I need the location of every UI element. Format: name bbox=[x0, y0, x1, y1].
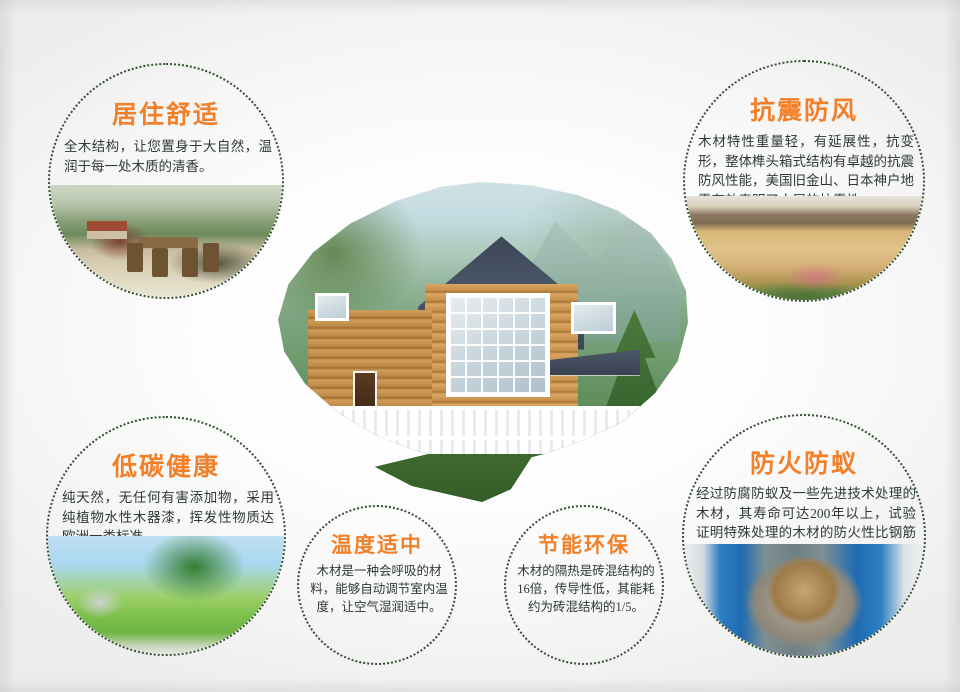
feature-photo-comfort bbox=[50, 185, 282, 297]
garden-chair-shape bbox=[182, 248, 198, 277]
feature-circle-quake-wind[interactable]: 抗震防风 木材特性重量轻，有延展性，抗变形，整体榫头箱式结构有卓越的抗震防风性能… bbox=[683, 60, 925, 302]
hero-house-speech-bubble bbox=[276, 182, 688, 502]
deck-railing bbox=[315, 406, 640, 454]
infographic-canvas: 居住舒适 全木结构，让您置身于大自然，温润于每一处木质的清香。 抗震防风 木材特… bbox=[0, 0, 960, 692]
pale-log-house-photo bbox=[685, 196, 923, 300]
upper-right-window bbox=[571, 302, 616, 335]
garden-chair-shape bbox=[203, 243, 219, 272]
feature-body-energy-saving: 木材的隔热是砖混结构的16倍，传导性低，其能耗约为砖混结构的1/5。 bbox=[516, 563, 656, 616]
feature-title-low-carbon: 低碳健康 bbox=[48, 447, 284, 483]
garden-chair-shape bbox=[152, 248, 168, 277]
feature-circle-energy-saving[interactable]: 节能环保 木材的隔热是砖混结构的16倍，传导性低，其能耗约为砖混结构的1/5。 bbox=[504, 505, 664, 665]
gable-window-glass bbox=[446, 293, 550, 397]
forest-sky-background bbox=[276, 182, 688, 502]
feature-photo-quake-wind bbox=[685, 196, 923, 300]
feature-circle-low-carbon[interactable]: 低碳健康 纯天然，无任何有害添加物，采用纯植物水性木器漆，挥发性物质达欧洲一类标… bbox=[46, 416, 286, 656]
feature-circle-fire-termite[interactable]: 防火防蚁 经过防腐防蚁及一些先进技术处理的木材，其寿命可达200年以上，试验证明… bbox=[682, 414, 926, 658]
log-house-illustration bbox=[301, 236, 647, 454]
upper-left-window bbox=[315, 293, 350, 321]
feature-body-comfort: 全木结构，让您置身于大自然，温润于每一处木质的清香。 bbox=[64, 137, 272, 176]
feature-title-comfort: 居住舒适 bbox=[50, 95, 282, 131]
farm-house-shape bbox=[87, 221, 126, 239]
feature-circle-comfort[interactable]: 居住舒适 全木结构，让您置身于大自然，温润于每一处木质的清香。 bbox=[48, 63, 284, 299]
feature-title-quake-wind: 抗震防风 bbox=[685, 91, 923, 127]
timber-autoclave-photo bbox=[684, 544, 924, 656]
eco-tree-house-photo bbox=[48, 536, 284, 654]
garden-chair-shape bbox=[127, 243, 143, 272]
garden-table-shape bbox=[138, 237, 198, 248]
feature-photo-low-carbon bbox=[48, 536, 284, 654]
feature-photo-fire-termite bbox=[684, 544, 924, 656]
feature-title-energy-saving: 节能环保 bbox=[506, 529, 662, 559]
feature-title-fire-termite: 防火防蚁 bbox=[684, 444, 924, 480]
feature-circle-temperature[interactable]: 温度适中 木材是一种会呼吸的材料，能够自动调节室内温度，让空气湿润适中。 bbox=[297, 505, 457, 665]
terrace-table-photo bbox=[50, 185, 282, 297]
feature-body-temperature: 木材是一种会呼吸的材料，能够自动调节室内温度，让空气湿润适中。 bbox=[309, 563, 449, 616]
feature-title-temperature: 温度适中 bbox=[299, 529, 455, 559]
